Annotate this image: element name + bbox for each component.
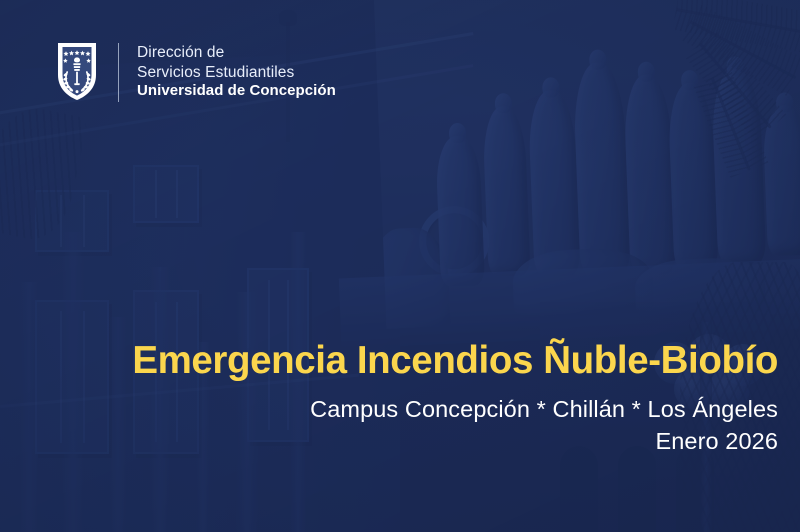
logo-line-2: Servicios Estudiantiles [137,63,336,83]
banner-date: Enero 2026 [18,428,778,456]
uc-shield-crest-icon [54,41,100,103]
headline-block: Emergencia Incendios Ñuble-Biobío Campus… [18,340,778,456]
institution-logo[interactable]: Dirección de Servicios Estudiantiles Uni… [54,41,336,103]
banner-subtitle: Campus Concepción * Chillán * Los Ángele… [18,396,778,424]
logo-line-1: Dirección de [137,43,336,63]
logo-text-block: Dirección de Servicios Estudiantiles Uni… [137,43,336,101]
logo-divider [118,43,119,102]
logo-line-3: Universidad de Concepción [137,82,336,101]
banner-title: Emergencia Incendios Ñuble-Biobío [18,340,778,382]
emergency-banner: Dirección de Servicios Estudiantiles Uni… [0,0,800,532]
